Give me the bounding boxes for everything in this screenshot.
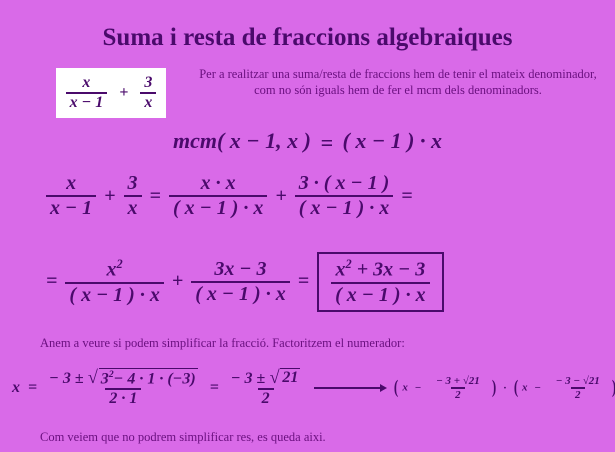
quadratic-sqrt-2: √ 21 <box>269 368 300 387</box>
quadratic-variable: x <box>8 379 24 397</box>
row1-fraction-3-denominator: ( x − 1 ) · x <box>169 195 267 220</box>
row1-fraction-4-numerator: 3 · ( x − 1 ) <box>295 172 393 195</box>
row2-fraction-5-numerator: x2 <box>103 257 127 282</box>
row2-plus-1: + <box>168 270 187 293</box>
factorization-expression: ( x − − 3 + √21 2 ) · ( x − − 3 − √21 2 … <box>393 375 615 401</box>
row1-fraction-1-numerator: x <box>62 172 80 195</box>
slide-page: Suma i resta de fraccions algebraiques x… <box>0 0 615 452</box>
start-fraction-2: 3 x <box>140 74 156 112</box>
mcm-equals: = <box>316 130 337 156</box>
page-title: Suma i resta de fraccions algebraiques <box>0 24 615 52</box>
start-expression: x x − 1 + 3 x <box>62 74 161 112</box>
row2-fraction-5: x2 ( x − 1 ) · x <box>65 257 163 307</box>
arrow-head <box>380 384 387 392</box>
equation-row-2: = x2 ( x − 1 ) · x + 3x − 3 ( x − 1 ) · … <box>42 252 444 312</box>
left-paren-1: ( <box>394 377 398 399</box>
factor-2-minus: − <box>530 382 545 394</box>
quadratic-fraction-1: − 3 ± √ 32− 4 · 1 · (−3) 2 · 1 <box>45 368 202 408</box>
factor-1-variable: x <box>402 382 408 394</box>
row1-fraction-1: x x − 1 <box>46 172 96 220</box>
mcm-label: mcm <box>173 128 217 153</box>
sqrt-body-1: 32− 4 · 1 · (−3) <box>99 368 198 388</box>
start-fraction-2-denominator: x <box>140 92 156 112</box>
quadratic-num2-prefix: − 3 ± <box>231 370 265 387</box>
start-fraction-2-numerator: 3 <box>140 74 156 92</box>
result-numerator-rest: + 3x − 3 <box>352 259 426 281</box>
intro-text: Per a realitzar una suma/resta de fracci… <box>196 66 600 98</box>
quadratic-fraction-2-numerator: − 3 ± √ 21 <box>227 368 305 388</box>
quadratic-num-prefix: − 3 ± <box>49 370 83 387</box>
implication-arrow-icon <box>314 384 387 392</box>
row1-plus-1: + <box>100 185 119 208</box>
note-simplify: Anem a veure si podem simplificar la fra… <box>40 336 580 351</box>
factor-multiply-dot: · <box>500 382 511 394</box>
equation-row-1: x x − 1 + 3 x = x · x ( x − 1 ) · x + 3 … <box>42 172 417 220</box>
arrow-shaft <box>314 387 380 389</box>
row2-fraction-6-numerator: 3x − 3 <box>210 258 270 281</box>
left-paren-2: ( <box>514 377 518 399</box>
sqrt-sign-2: √ <box>269 368 280 387</box>
right-paren-1: ) <box>491 377 495 399</box>
result-fraction: x2 + 3x − 3 ( x − 1 ) · x <box>331 257 429 307</box>
start-fraction-1-denominator: x − 1 <box>66 92 108 112</box>
quadratic-fraction-2-denominator: 2 <box>258 388 274 408</box>
quadratic-equals-1: = <box>24 379 41 397</box>
note-conclusion: Com veiem que no podrem simplificar res,… <box>40 430 580 445</box>
row1-fraction-4-denominator: ( x − 1 ) · x <box>295 195 393 220</box>
row1-equals-1: = <box>146 185 165 208</box>
row2-fraction-6: 3x − 3 ( x − 1 ) · x <box>191 258 289 306</box>
radicand-rest: − 4 · 1 · (−3) <box>114 370 196 387</box>
row1-fraction-2-denominator: x <box>124 195 142 220</box>
result-fraction-numerator: x2 + 3x − 3 <box>331 257 429 282</box>
factor-1-denominator: 2 <box>451 387 465 401</box>
row2-fraction-5-numerator-exponent: 2 <box>117 257 123 271</box>
row1-fraction-2: 3 x <box>124 172 142 220</box>
row1-fraction-3: x · x ( x − 1 ) · x <box>169 172 267 220</box>
row2-fraction-6-denominator: ( x − 1 ) · x <box>191 281 289 306</box>
sqrt-sign-1: √ <box>88 368 99 388</box>
row1-equals-2: = <box>397 185 416 208</box>
quadratic-fraction-1-numerator: − 3 ± √ 32− 4 · 1 · (−3) <box>45 368 202 388</box>
radicand-base: 3 <box>101 370 109 387</box>
right-paren-2: ) <box>611 377 615 399</box>
sqrt-body-2: 21 <box>280 368 300 387</box>
factor-2-variable: x <box>522 382 528 394</box>
start-plus-operator: + <box>115 84 132 102</box>
factor-2-denominator: 2 <box>571 387 585 401</box>
factor-2-numerator: − 3 − √21 <box>552 375 604 387</box>
factor-1-fraction: − 3 + √21 2 <box>432 375 484 401</box>
row1-fraction-3-numerator: x · x <box>197 172 240 195</box>
result-fraction-denominator: ( x − 1 ) · x <box>331 282 429 307</box>
factor-2-fraction: − 3 − √21 2 <box>552 375 604 401</box>
start-fraction-1: x x − 1 <box>66 74 108 112</box>
row2-fraction-5-denominator: ( x − 1 ) · x <box>65 282 163 307</box>
row1-fraction-2-numerator: 3 <box>124 172 142 195</box>
start-fraction-1-numerator: x <box>78 74 94 92</box>
mcm-args: ( x − 1, x ) <box>217 128 311 153</box>
row1-fraction-4: 3 · ( x − 1 ) ( x − 1 ) · x <box>295 172 393 220</box>
quadratic-fraction-1-denominator: 2 · 1 <box>105 388 141 408</box>
row1-plus-2: + <box>271 185 290 208</box>
quadratic-formula-row: x = − 3 ± √ 32− 4 · 1 · (−3) 2 · 1 = − 3… <box>8 368 615 408</box>
row2-equals-0: = <box>42 270 61 293</box>
row2-equals-1: = <box>294 270 313 293</box>
quadratic-fraction-2: − 3 ± √ 21 2 <box>227 368 305 408</box>
factor-1-minus: − <box>411 382 426 394</box>
result-box: x2 + 3x − 3 ( x − 1 ) · x <box>317 252 443 312</box>
start-fraction-box: x x − 1 + 3 x <box>56 68 166 118</box>
mcm-result: ( x − 1 ) · x <box>343 128 442 153</box>
row2-fraction-5-numerator-base: x <box>107 259 117 281</box>
quadratic-equals-2: = <box>206 379 223 397</box>
quadratic-sqrt-1: √ 32− 4 · 1 · (−3) <box>88 368 198 388</box>
mcm-line: mcm( x − 1, x ) = ( x − 1 ) · x <box>0 128 615 156</box>
row1-fraction-1-denominator: x − 1 <box>46 195 96 220</box>
result-numerator-base: x <box>335 259 345 281</box>
factor-1-numerator: − 3 + √21 <box>432 375 484 387</box>
